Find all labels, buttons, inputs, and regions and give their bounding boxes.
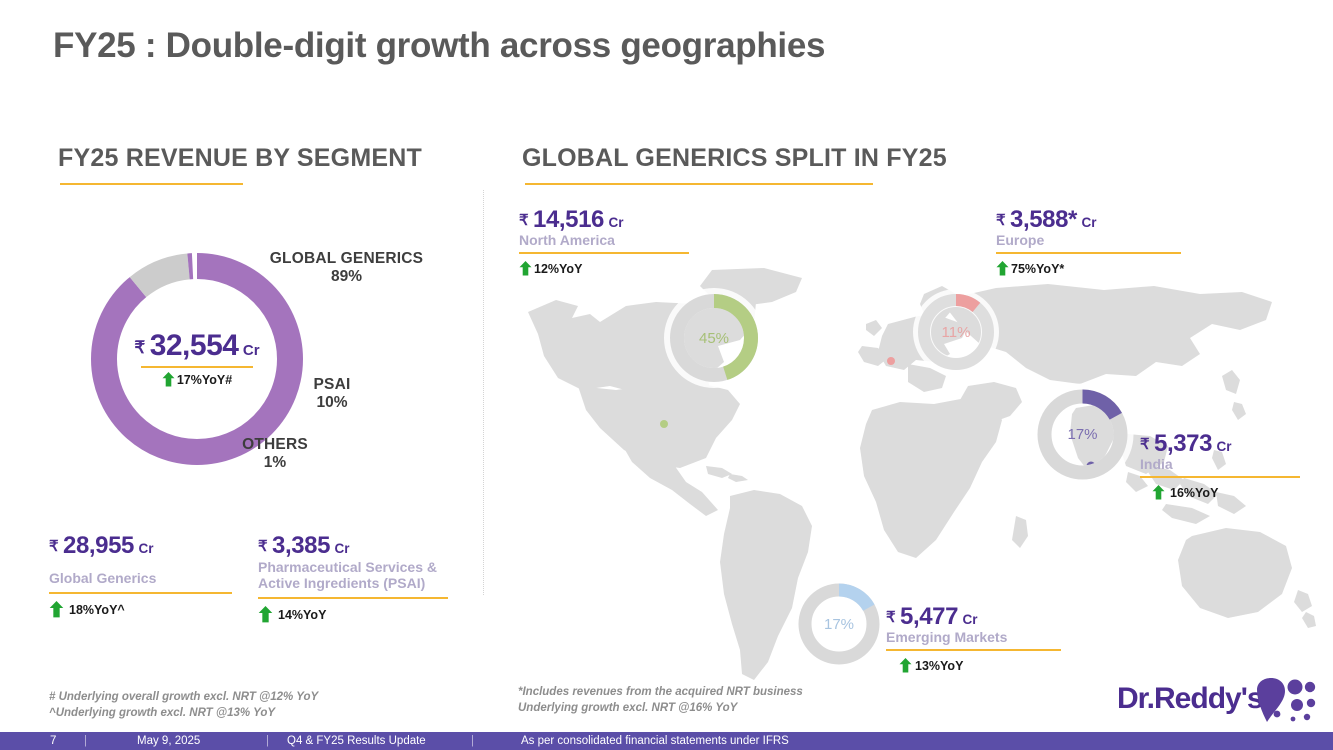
kpi-label: Pharmaceutical Services & Active Ingredi…	[258, 560, 468, 592]
kpi-value: 5,477	[900, 603, 958, 630]
kpi-yoy-text: 14%YoY	[278, 608, 326, 622]
kpi-yoy: 18%YoY^	[49, 601, 249, 618]
kpi-yoy-text: 13%YoY	[915, 659, 963, 673]
kpi-unit: Cr	[963, 612, 978, 627]
kpi-unit: Cr	[608, 215, 623, 230]
kpi-label: Europe	[996, 233, 1196, 249]
donut-label-global-generics: GLOBAL GENERICS 89%	[264, 250, 429, 287]
footer-separator: |	[471, 735, 474, 747]
kpi-yoy: 13%YoY	[899, 658, 1086, 673]
rupee-symbol-icon: ₹	[1140, 436, 1150, 453]
arrow-up-icon	[258, 606, 273, 623]
arrow-up-icon	[996, 261, 1009, 276]
kpi-unit: Cr	[1217, 439, 1232, 454]
map-donut-europe: 11%	[913, 289, 999, 375]
map-donut-pct: 45%	[664, 288, 764, 388]
kpi-psai: ₹ 3,385 Cr Pharmaceutical Services & Act…	[258, 533, 468, 623]
footer-date: May 9, 2025	[137, 735, 200, 747]
arrow-up-icon	[49, 601, 64, 618]
kpi-yoy-text: 16%YoY	[1170, 486, 1218, 500]
kpi-value: 14,516	[533, 206, 604, 233]
kpi-label: India	[1140, 457, 1330, 473]
kpi-underline	[519, 252, 689, 254]
arrow-up-icon	[1152, 485, 1165, 500]
total-revenue-yoy: 17%YoY#	[162, 372, 232, 387]
footer-document-title: Q4 & FY25 Results Update	[287, 735, 426, 747]
logo-heart-icon	[1255, 678, 1317, 724]
footer-separator: |	[266, 735, 269, 747]
footer-bar: 7 | May 9, 2025 | Q4 & FY25 Results Upda…	[0, 732, 1333, 750]
footer-note: As per consolidated financial statements…	[521, 735, 789, 747]
rupee-symbol-icon: ₹	[886, 609, 896, 626]
map-donut-india: 17%	[1031, 383, 1134, 486]
kpi-label: Emerging Markets	[886, 630, 1086, 646]
kpi-yoy: 75%YoY*	[996, 261, 1196, 276]
dr-reddys-logo: Dr.Reddy's	[1117, 678, 1317, 726]
right-heading-underline	[525, 183, 873, 185]
kpi-label: Global Generics	[49, 571, 249, 587]
rupee-symbol-icon: ₹	[49, 538, 59, 555]
arrow-up-icon	[519, 261, 532, 276]
map-donut-north-america: 45%	[664, 288, 764, 388]
kpi-global-generics: ₹ 28,955 Cr Global Generics 18%YoY^	[49, 533, 249, 618]
map-donut-pct: 17%	[1031, 383, 1134, 486]
kpi-yoy-text: 75%YoY*	[1011, 262, 1064, 276]
map-dot-usa	[660, 420, 668, 428]
donut-label-psai: PSAI 10%	[287, 376, 377, 413]
kpi-yoy: 12%YoY	[519, 261, 719, 276]
footer-page-number: 7	[50, 735, 56, 747]
map-donut-pct: 11%	[913, 289, 999, 375]
kpi-underline	[996, 252, 1181, 254]
kpi-unit: Cr	[335, 541, 350, 556]
total-revenue-value: 32,554	[150, 329, 239, 362]
arrow-up-icon	[899, 658, 912, 673]
kpi-value: 28,955	[63, 532, 134, 559]
kpi-value: 3,588*	[1010, 206, 1077, 233]
map-donut-emerging-markets: 17%	[793, 578, 885, 670]
rupee-symbol-icon: ₹	[258, 538, 268, 555]
rupee-symbol-icon: ₹	[134, 338, 145, 357]
map-donut-pct: 17%	[793, 578, 885, 670]
kpi-underline	[1140, 476, 1300, 478]
kpi-unit: Cr	[1081, 215, 1096, 230]
left-heading-underline	[60, 183, 243, 185]
arrow-up-icon	[162, 372, 175, 387]
kpi-value: 5,373	[1154, 430, 1212, 457]
kpi-india: ₹ 5,373 Cr India 16%YoY	[1140, 431, 1330, 500]
right-footnotes: *Includes revenues from the acquired NRT…	[518, 685, 803, 716]
kpi-underline	[886, 649, 1061, 651]
kpi-yoy-text: 18%YoY^	[69, 603, 125, 617]
total-revenue-yoy-text: 17%YoY#	[177, 373, 232, 387]
rupee-symbol-icon: ₹	[519, 212, 529, 229]
total-revenue-unit: Cr	[243, 342, 260, 359]
kpi-emerging-markets: ₹ 5,477 Cr Emerging Markets 13%YoY	[886, 604, 1086, 673]
rupee-symbol-icon: ₹	[996, 212, 1006, 229]
page-title: FY25 : Double-digit growth across geogra…	[53, 26, 825, 66]
panel-divider	[483, 190, 485, 595]
kpi-value: 3,385	[272, 532, 330, 559]
kpi-yoy-text: 12%YoY	[534, 262, 582, 276]
kpi-europe: ₹ 3,588* Cr Europe 75%YoY*	[996, 207, 1196, 276]
left-section-heading: FY25 REVENUE BY SEGMENT	[58, 144, 422, 173]
kpi-yoy: 14%YoY	[258, 606, 468, 623]
center-underline	[141, 366, 253, 368]
kpi-underline	[49, 592, 232, 594]
map-dot-europe	[887, 357, 895, 365]
slide-canvas: FY25 : Double-digit growth across geogra…	[0, 0, 1333, 750]
kpi-north-america: ₹ 14,516 Cr North America 12%YoY	[519, 207, 719, 276]
donut-label-others: OTHERS 1%	[215, 436, 335, 473]
footer-separator: |	[84, 735, 87, 747]
left-footnotes: # Underlying overall growth excl. NRT @1…	[49, 690, 318, 721]
right-section-heading: GLOBAL GENERICS SPLIT IN FY25	[522, 144, 947, 173]
kpi-unit: Cr	[138, 541, 153, 556]
kpi-label: North America	[519, 233, 719, 249]
kpi-underline	[258, 597, 448, 599]
kpi-yoy: 16%YoY	[1152, 485, 1330, 500]
logo-wordmark: Dr.Reddy's	[1117, 682, 1263, 716]
